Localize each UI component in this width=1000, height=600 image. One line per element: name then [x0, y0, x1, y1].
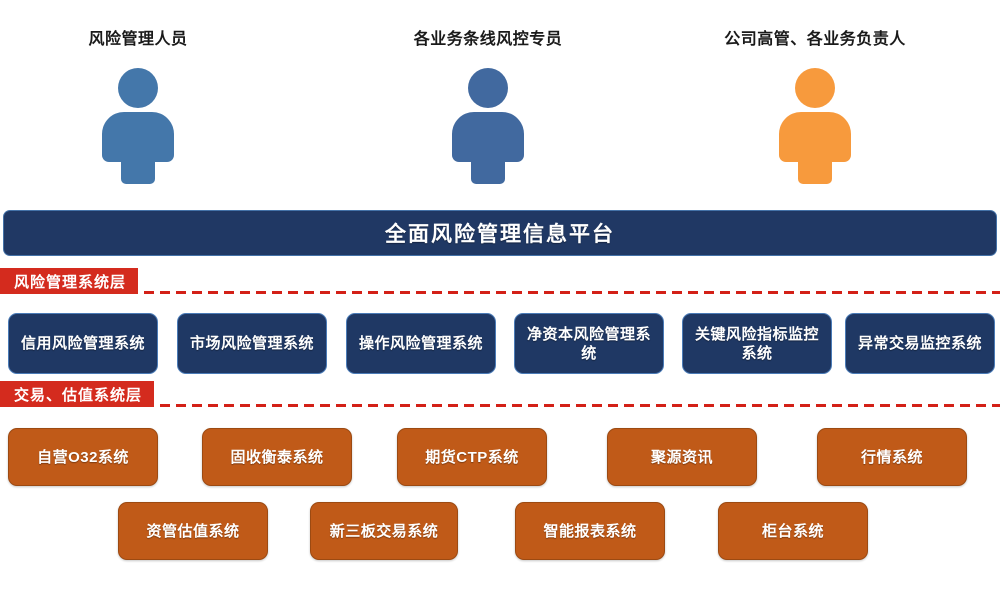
layer-band-1: 风险管理系统层 [0, 268, 1000, 294]
system-node[interactable]: 操作风险管理系统 [346, 313, 496, 374]
actor-1: 风险管理人员 [58, 30, 218, 183]
layer-tag: 交易、估值系统层 [0, 381, 154, 407]
person-icon [774, 68, 856, 183]
system-node[interactable]: 柜台系统 [718, 502, 868, 560]
platform-banner[interactable]: 全面风险管理信息平台 [3, 210, 997, 256]
system-node[interactable]: 固收衡泰系统 [202, 428, 352, 486]
architecture-diagram: 风险管理人员各业务条线风控专员公司高管、各业务负责人 全面风险管理信息平台 风险… [0, 0, 1000, 600]
system-node[interactable]: 期货CTP系统 [397, 428, 547, 486]
person-legs [798, 156, 832, 184]
system-node[interactable]: 行情系统 [817, 428, 967, 486]
system-node[interactable]: 市场风险管理系统 [177, 313, 327, 374]
layer-tag: 风险管理系统层 [0, 268, 138, 294]
actor-3: 公司高管、各业务负责人 [720, 30, 910, 183]
person-head [795, 68, 835, 108]
system-node[interactable]: 资管估值系统 [118, 502, 268, 560]
system-node[interactable]: 聚源资讯 [607, 428, 757, 486]
person-icon [447, 68, 529, 183]
actor-label: 风险管理人员 [58, 30, 218, 50]
actor-2: 各业务条线风控专员 [408, 30, 568, 183]
layer-band-2: 交易、估值系统层 [0, 381, 1000, 407]
system-node[interactable]: 信用风险管理系统 [8, 313, 158, 374]
person-legs [121, 156, 155, 184]
system-node[interactable]: 净资本风险管理系统 [514, 313, 664, 374]
person-head [468, 68, 508, 108]
person-torso [102, 112, 174, 162]
system-node[interactable]: 智能报表系统 [515, 502, 665, 560]
person-torso [452, 112, 524, 162]
system-node[interactable]: 异常交易监控系统 [845, 313, 995, 374]
platform-banner-title: 全面风险管理信息平台 [385, 218, 615, 248]
person-head [118, 68, 158, 108]
layer-divider-dashed [0, 291, 1000, 294]
actor-label: 公司高管、各业务负责人 [720, 30, 910, 50]
person-legs [471, 156, 505, 184]
actor-label: 各业务条线风控专员 [408, 30, 568, 50]
person-torso [779, 112, 851, 162]
system-node[interactable]: 新三板交易系统 [310, 502, 458, 560]
person-icon [97, 68, 179, 183]
system-node[interactable]: 关键风险指标监控系统 [682, 313, 832, 374]
system-node[interactable]: 自营O32系统 [8, 428, 158, 486]
